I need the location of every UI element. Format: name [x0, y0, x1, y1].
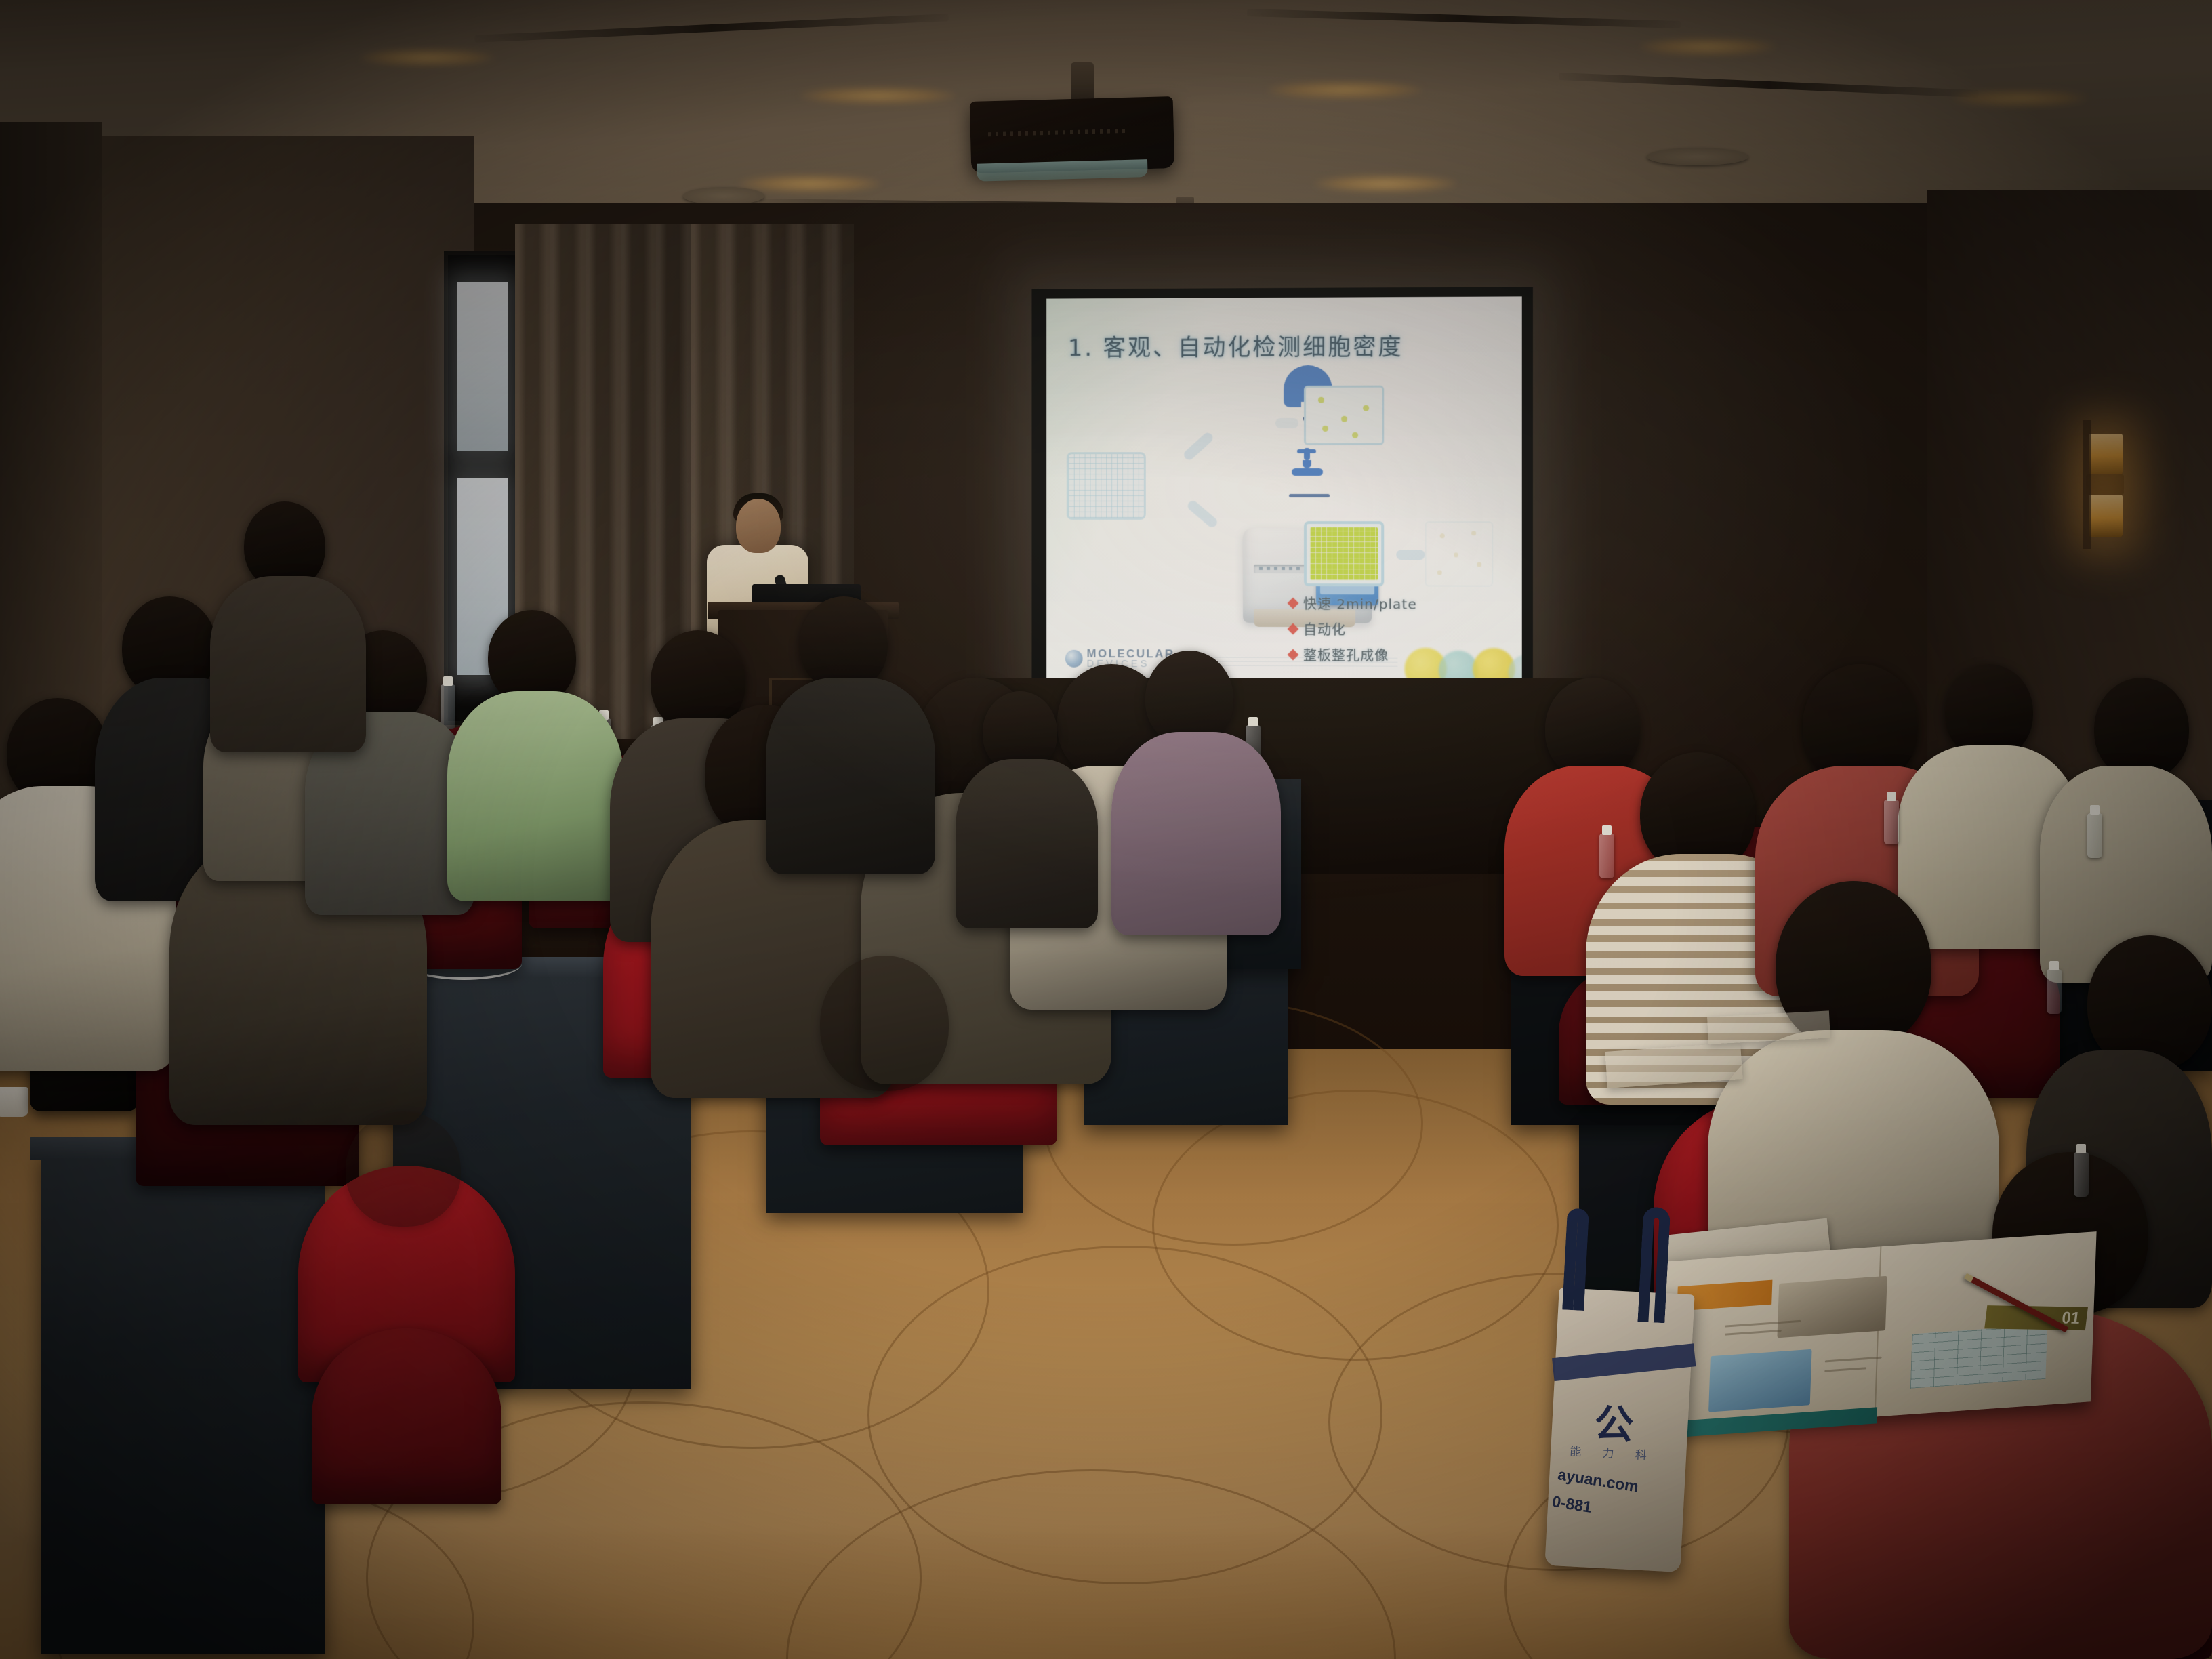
tote-stripe	[1552, 1343, 1696, 1381]
list-item: 快速 2min/plate	[1289, 593, 1417, 613]
projection-screen: 1. 客观、自动化检测细胞密度	[1031, 287, 1532, 696]
water-bottle	[1884, 800, 1899, 844]
microscope-icon	[1289, 448, 1327, 480]
table	[41, 1152, 325, 1654]
tote-handle-right	[1637, 1206, 1671, 1323]
chair	[312, 1328, 501, 1504]
result-plate-icon	[1425, 521, 1494, 587]
logo-sphere-icon	[1065, 650, 1083, 668]
tote-logo-glyph: 公	[1593, 1404, 1635, 1445]
water-bottle	[2047, 969, 2062, 1014]
water-bottle	[2074, 1152, 2089, 1197]
sparse-wells-plate-icon	[1304, 386, 1384, 445]
arrow-icon	[1186, 499, 1219, 529]
tote-bag: 公 能 力 科 ayuan.com 0-881	[1544, 1288, 1694, 1572]
tote-url: ayuan.com	[1557, 1465, 1640, 1496]
arrow-icon	[1182, 431, 1214, 462]
brochure-table	[1910, 1324, 2047, 1388]
arrow-icon	[1275, 418, 1298, 428]
conference-room-scene: 1. 客观、自动化检测细胞密度	[0, 0, 2212, 1659]
presenter-head	[736, 499, 781, 553]
bullet-label: 自动化	[1303, 619, 1346, 638]
slide-title: 1. 客观、自动化检测细胞密度	[1068, 328, 1404, 363]
brochure-page-tab: 01	[1984, 1305, 2088, 1330]
arrow-icon	[1396, 550, 1425, 560]
water-bottle	[441, 684, 455, 729]
tote-chinese-text: 能 力 科	[1570, 1441, 1656, 1463]
bullet-label: 快速 2min/plate	[1303, 593, 1417, 613]
projector-icon	[970, 96, 1175, 173]
water-bottle	[2087, 813, 2102, 858]
paper-cup	[0, 1087, 28, 1117]
sconce-shade	[2086, 474, 2124, 495]
bench-icon	[1289, 494, 1330, 497]
presentation-slide: 1. 客观、自动化检测细胞密度	[1046, 296, 1522, 682]
smoke-detector-icon	[683, 187, 764, 205]
wall-sconce-upper	[2089, 434, 2123, 474]
wall-sconce-lower	[2089, 495, 2123, 537]
diamond-bullet-icon	[1288, 623, 1299, 634]
ceiling-vent-icon	[1647, 148, 1748, 165]
diamond-bullet-icon	[1288, 597, 1299, 609]
sconce-wall-plate	[2083, 420, 2091, 549]
brochure-photo-2	[1708, 1349, 1812, 1412]
tote-phone: 0-881	[1551, 1492, 1593, 1517]
list-item: 自动化	[1289, 619, 1417, 639]
brochure-photo-1	[1777, 1276, 1887, 1338]
dense-plate-icon	[1304, 521, 1384, 586]
tote-handle-left	[1562, 1208, 1589, 1311]
empty-microplate-icon	[1067, 452, 1146, 520]
water-bottle	[1599, 834, 1614, 878]
open-brochure: 01	[1658, 1231, 2096, 1432]
